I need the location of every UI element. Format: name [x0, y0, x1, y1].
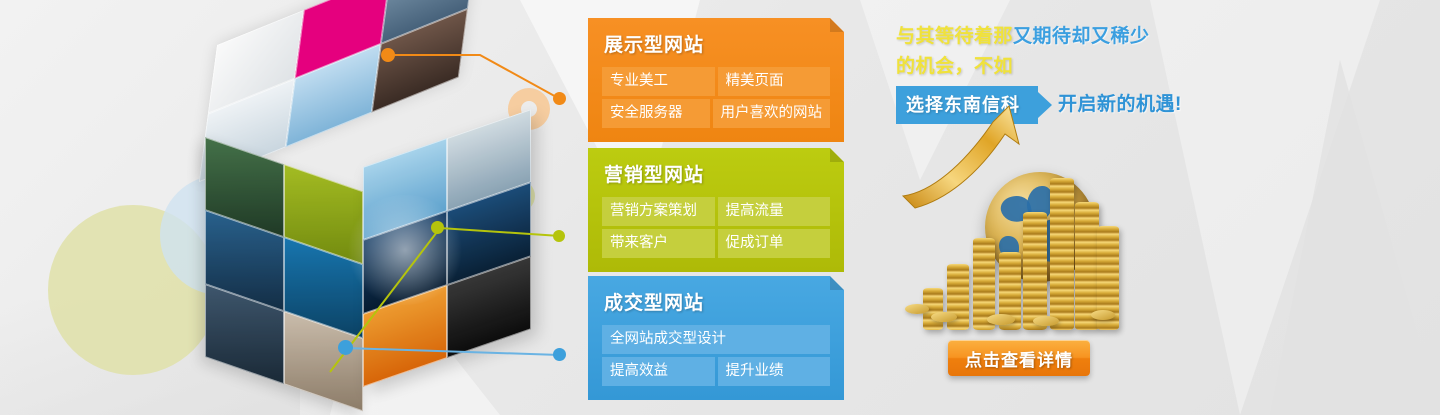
panel-rows: 专业美工 精美页面 安全服务器 用户喜欢的网站	[602, 67, 830, 128]
connector-dot-olive	[553, 230, 565, 242]
panel-cell[interactable]: 提升业绩	[718, 357, 831, 386]
panel-title: 营销型网站	[604, 160, 830, 187]
panel-row: 全网站成交型设计	[602, 325, 830, 354]
headline-line-2: 的机会，不如	[896, 52, 1226, 82]
panel-row: 提高效益 提升业绩	[602, 357, 830, 386]
loose-coin	[905, 304, 929, 314]
connector-dot-orange	[381, 48, 395, 62]
coin-stack	[1050, 178, 1074, 330]
panel-row: 带来客户 促成订单	[602, 229, 830, 258]
headline-text-blue: 又期待却又稀少	[1013, 26, 1150, 47]
panel-marketing[interactable]: 营销型网站 营销方案策划 提高流量 带来客户 促成订单	[588, 148, 844, 272]
connector-dot-orange	[553, 92, 566, 105]
coin-stack	[1023, 212, 1047, 330]
panel-cell[interactable]: 用户喜欢的网站	[713, 99, 831, 128]
panel-cell[interactable]: 安全服务器	[602, 99, 710, 128]
headline-line-1: 与其等待着那又期待却又稀少	[896, 22, 1226, 52]
panel-row: 营销方案策划 提高流量	[602, 197, 830, 226]
panel-row: 专业美工 精美页面	[602, 67, 830, 96]
panel-rows: 全网站成交型设计 提高效益 提升业绩	[602, 325, 830, 386]
globe-with-coin-stacks	[895, 100, 1125, 330]
loose-coin	[1033, 316, 1059, 326]
connector-dot-olive	[431, 221, 444, 234]
headline-text-yellow: 与其等待着那	[896, 26, 1013, 47]
panel-cell[interactable]: 精美页面	[718, 67, 831, 96]
panel-title: 展示型网站	[604, 30, 830, 57]
loose-coin	[987, 314, 1015, 325]
panel-row: 安全服务器 用户喜欢的网站	[602, 99, 830, 128]
panel-showcase[interactable]: 展示型网站 专业美工 精美页面 安全服务器 用户喜欢的网站	[588, 18, 844, 142]
promo-banner: 展示型网站 专业美工 精美页面 安全服务器 用户喜欢的网站 营销型网站 营销方案…	[0, 0, 1440, 415]
loose-coin	[1091, 310, 1115, 320]
panel-cell[interactable]: 带来客户	[602, 229, 715, 258]
panel-conversion[interactable]: 成交型网站 全网站成交型设计 提高效益 提升业绩	[588, 276, 844, 400]
panel-title: 成交型网站	[604, 288, 830, 315]
panel-cell[interactable]: 促成订单	[718, 229, 831, 258]
panel-cell[interactable]: 提高效益	[602, 357, 715, 386]
panel-cell[interactable]: 营销方案策划	[602, 197, 715, 226]
panel-cell[interactable]: 专业美工	[602, 67, 715, 96]
panel-rows: 营销方案策划 提高流量 带来客户 促成订单	[602, 197, 830, 258]
panel-cell[interactable]: 全网站成交型设计	[602, 325, 830, 354]
connector-dot-blue	[553, 348, 566, 361]
panel-cell[interactable]: 提高流量	[718, 197, 831, 226]
loose-coin	[931, 312, 957, 322]
connector-dot-blue	[338, 340, 353, 355]
view-details-button[interactable]: 点击查看详情	[948, 340, 1090, 376]
